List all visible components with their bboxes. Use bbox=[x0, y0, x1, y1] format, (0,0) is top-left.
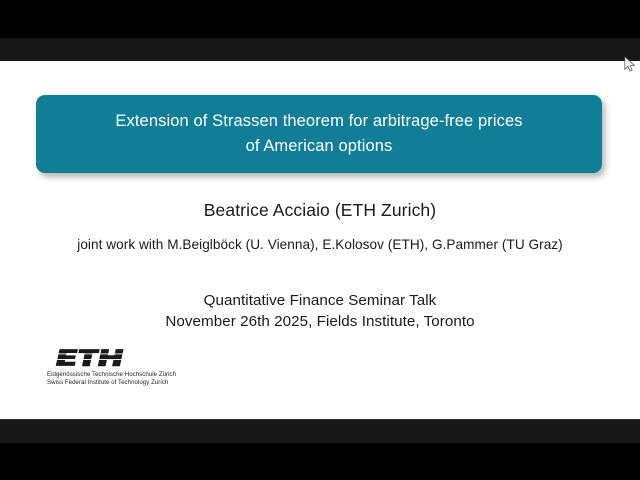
player-chrome-band-bottom bbox=[0, 419, 640, 443]
eth-logo-subtitle: Eidgenössische Technische Hochschule Zür… bbox=[47, 371, 222, 388]
eth-zurich-logo: Eidgenössische Technische Hochschule Zür… bbox=[47, 348, 222, 388]
eth-wordmark-icon bbox=[47, 348, 131, 368]
player-chrome-band-top bbox=[0, 38, 640, 61]
slide-title: Extension of Strassen theorem for arbitr… bbox=[115, 109, 522, 159]
presentation-slide: Extension of Strassen theorem for arbitr… bbox=[0, 61, 640, 419]
slide-event-details: Quantitative Finance Seminar Talk Novemb… bbox=[0, 290, 640, 332]
letterbox-bar-bottom bbox=[0, 443, 640, 480]
slide-title-banner: Extension of Strassen theorem for arbitr… bbox=[36, 95, 602, 173]
letterbox-bar-top bbox=[0, 0, 640, 38]
video-player-viewport: Extension of Strassen theorem for arbitr… bbox=[0, 0, 640, 480]
slide-coauthors: joint work with M.Beiglböck (U. Vienna),… bbox=[0, 237, 640, 252]
slide-author: Beatrice Acciaio (ETH Zurich) bbox=[0, 200, 640, 221]
